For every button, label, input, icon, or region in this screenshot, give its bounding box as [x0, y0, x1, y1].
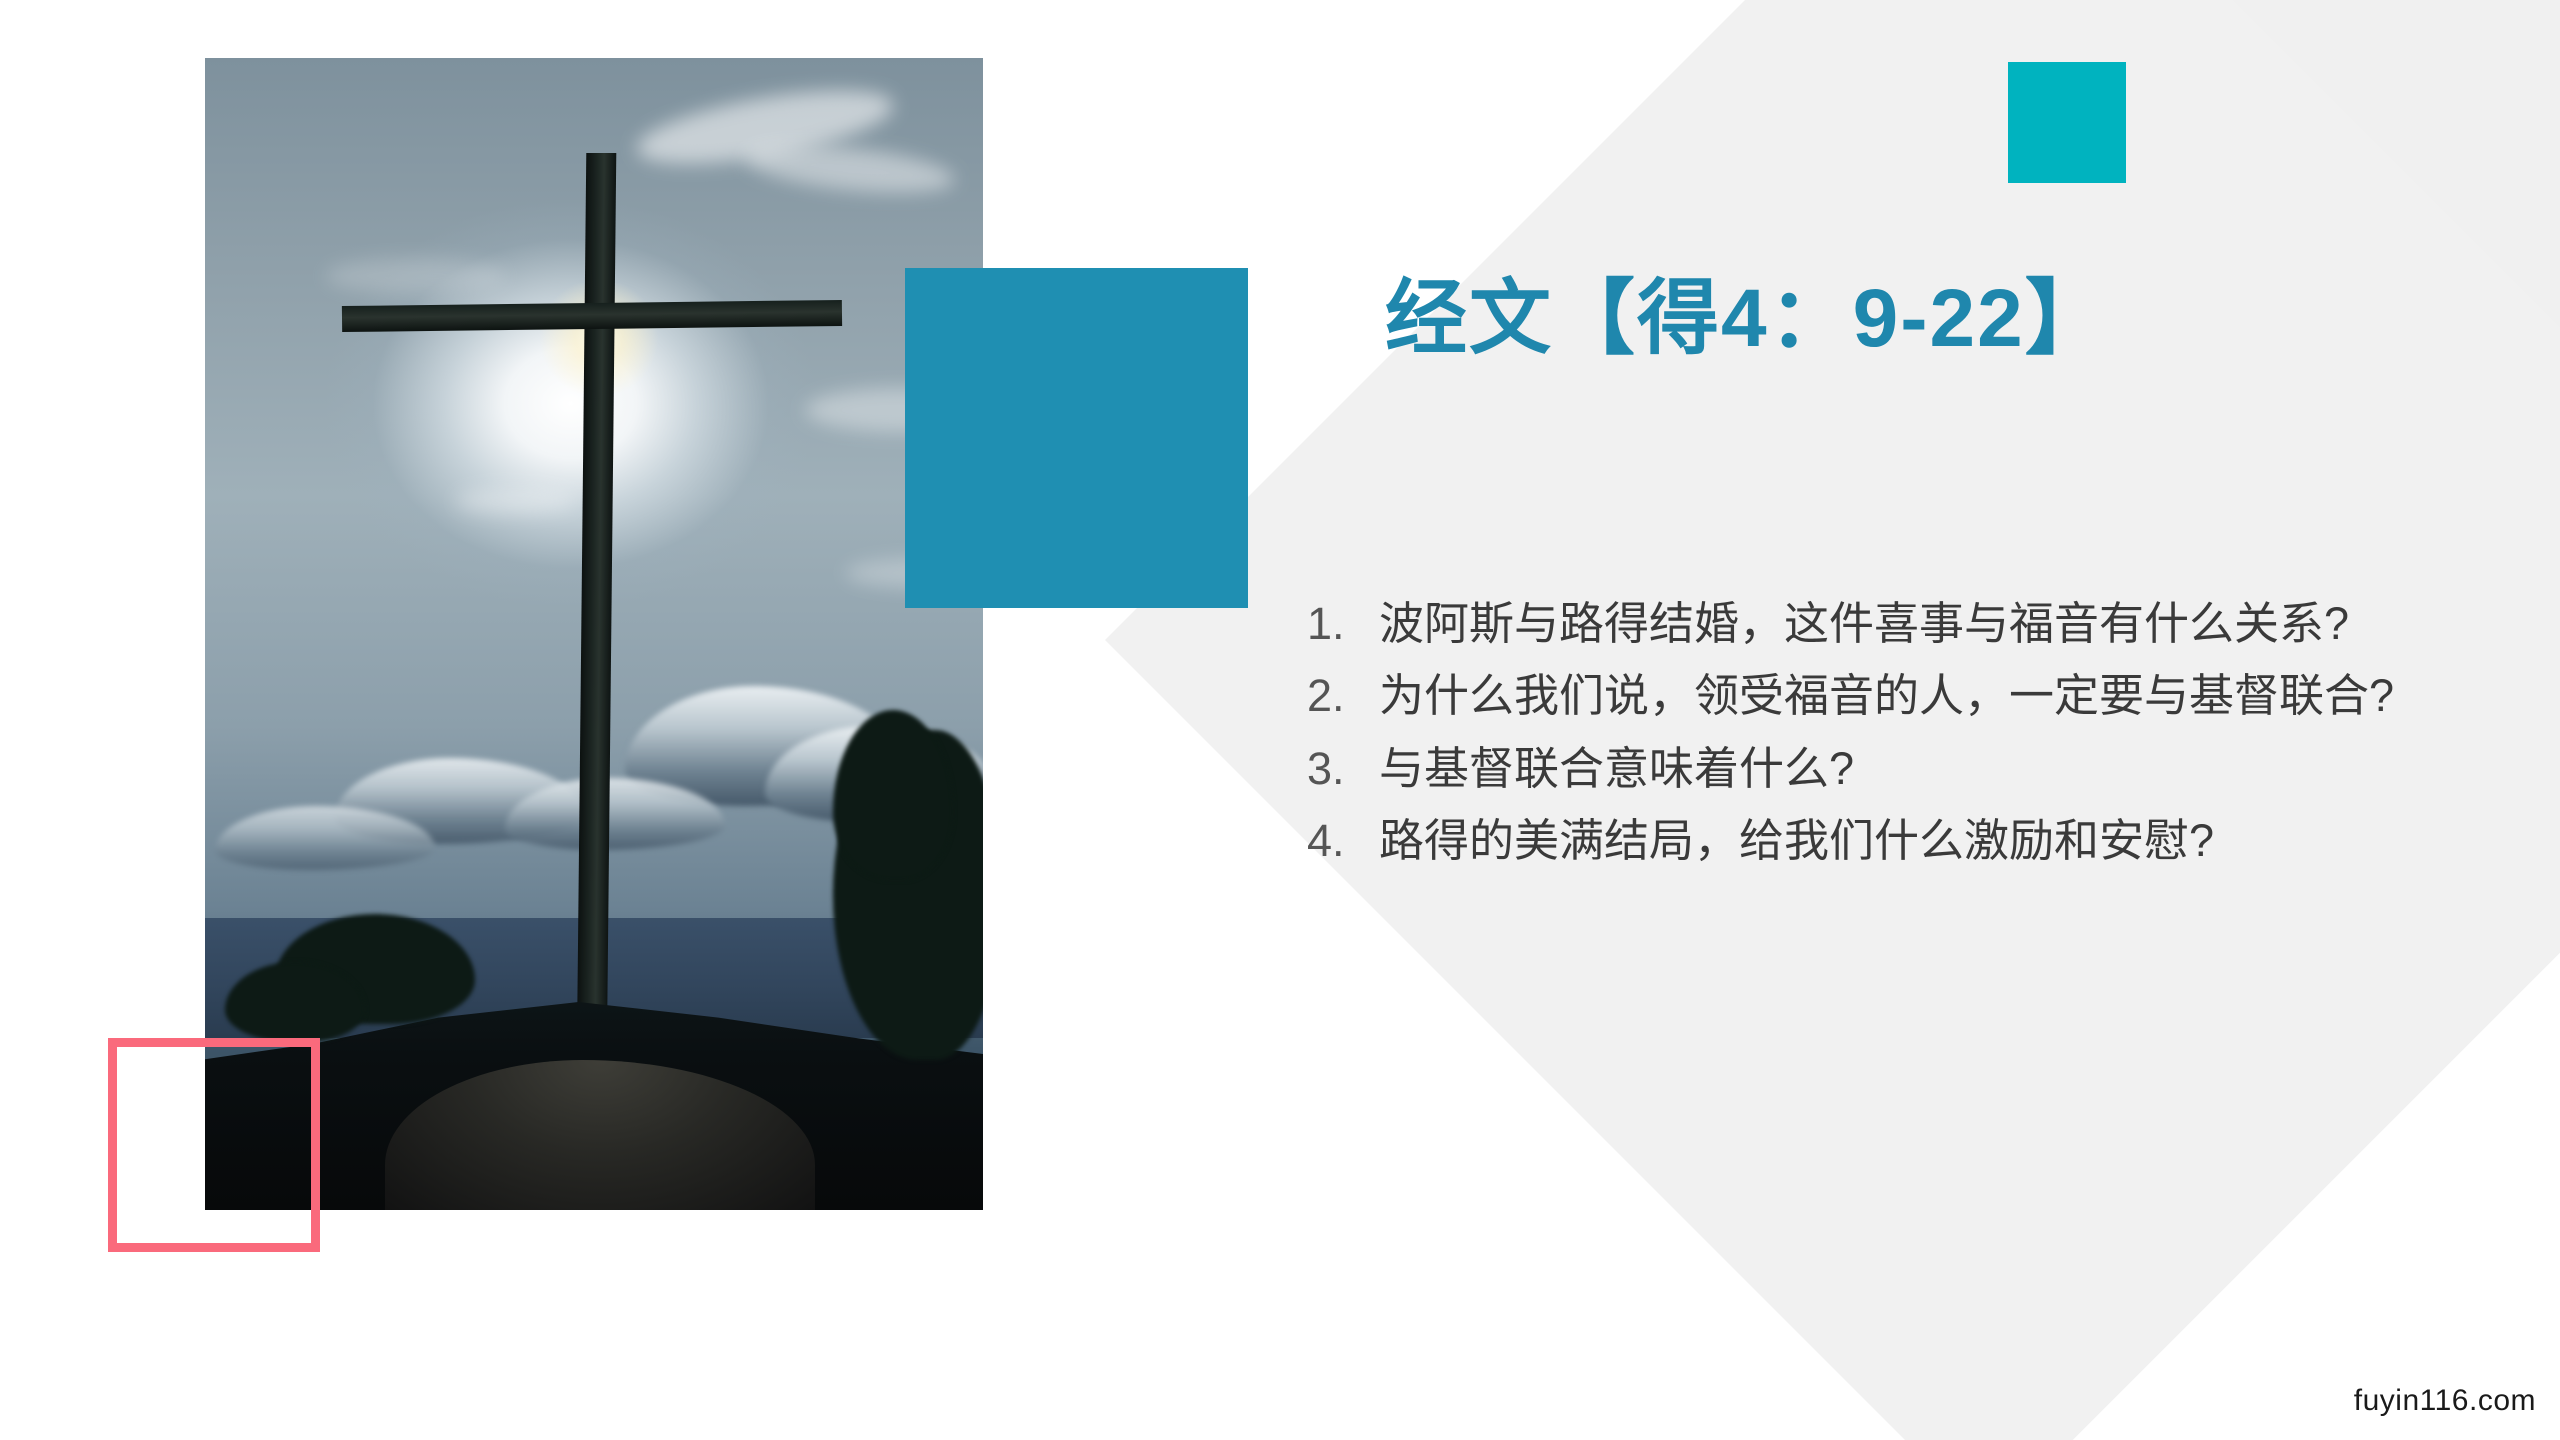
- list-item: 路得的美满结局，给我们什么激励和安慰?: [1357, 807, 2560, 875]
- list-item: 波阿斯与路得结婚，这件喜事与福音有什么关系?: [1357, 590, 2560, 658]
- list-item: 为什么我们说，领受福音的人，一定要与基督联合?: [1357, 662, 2560, 730]
- accent-square-pink-outline: [108, 1038, 320, 1252]
- accent-square-blue: [905, 268, 1248, 608]
- list-item: 与基督联合意味着什么?: [1357, 735, 2560, 803]
- question-list: 波阿斯与路得结婚，这件喜事与福音有什么关系? 为什么我们说，领受福音的人，一定要…: [1285, 590, 2560, 880]
- slide-canvas: 经文【得4：9-22】 波阿斯与路得结婚，这件喜事与福音有什么关系? 为什么我们…: [0, 0, 2560, 1440]
- cloud-wisp: [455, 488, 575, 514]
- site-watermark: fuyin116.com: [2354, 1384, 2536, 1418]
- cross-photo: [205, 58, 983, 1210]
- accent-square-cyan: [2008, 62, 2126, 183]
- cloud-wisp: [325, 258, 505, 294]
- page-title: 经文【得4：9-22】: [1385, 272, 2109, 366]
